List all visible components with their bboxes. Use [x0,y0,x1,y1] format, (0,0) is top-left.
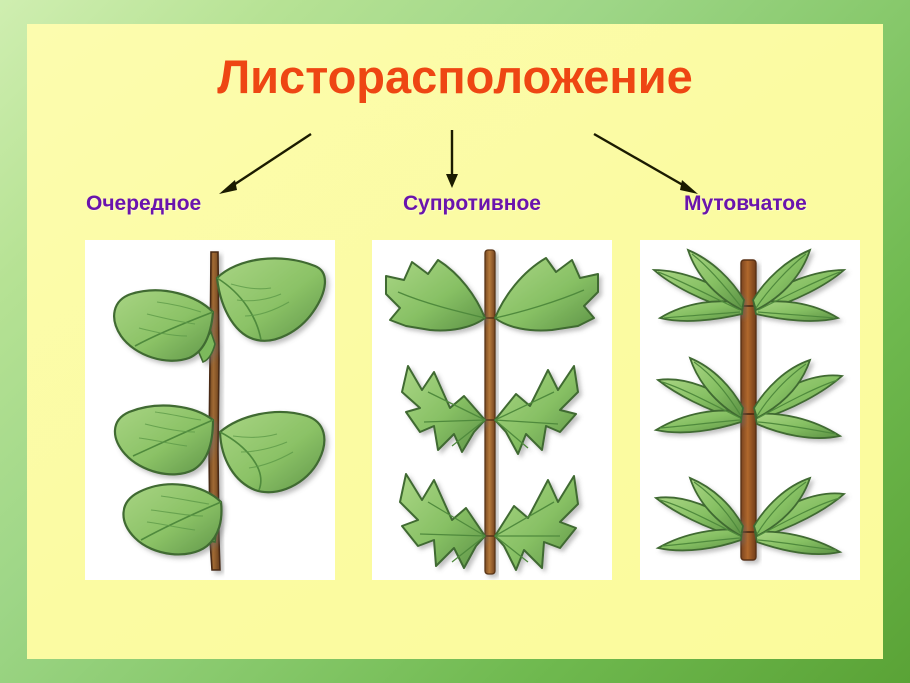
label-whorled: Мутовчатое [684,192,807,216]
plant-alternate-leaves-icon [85,240,335,580]
plant-whorled-leaves-icon [640,240,860,580]
plant-opposite-leaves-icon [372,240,612,580]
arrow-to-whorled-icon [590,130,700,196]
slide-canvas: Листорасположение Очередное Супротивное … [0,0,910,683]
illustration-panel-opposite [372,240,612,580]
illustration-panel-alternate [85,240,335,580]
page-title: Листорасположение [0,52,910,101]
label-alternate: Очередное [86,192,201,216]
arrow-to-alternate-icon [215,130,315,196]
label-opposite: Супротивное [403,192,541,216]
illustration-panel-whorled [640,240,860,580]
arrow-to-opposite-icon [440,130,464,190]
